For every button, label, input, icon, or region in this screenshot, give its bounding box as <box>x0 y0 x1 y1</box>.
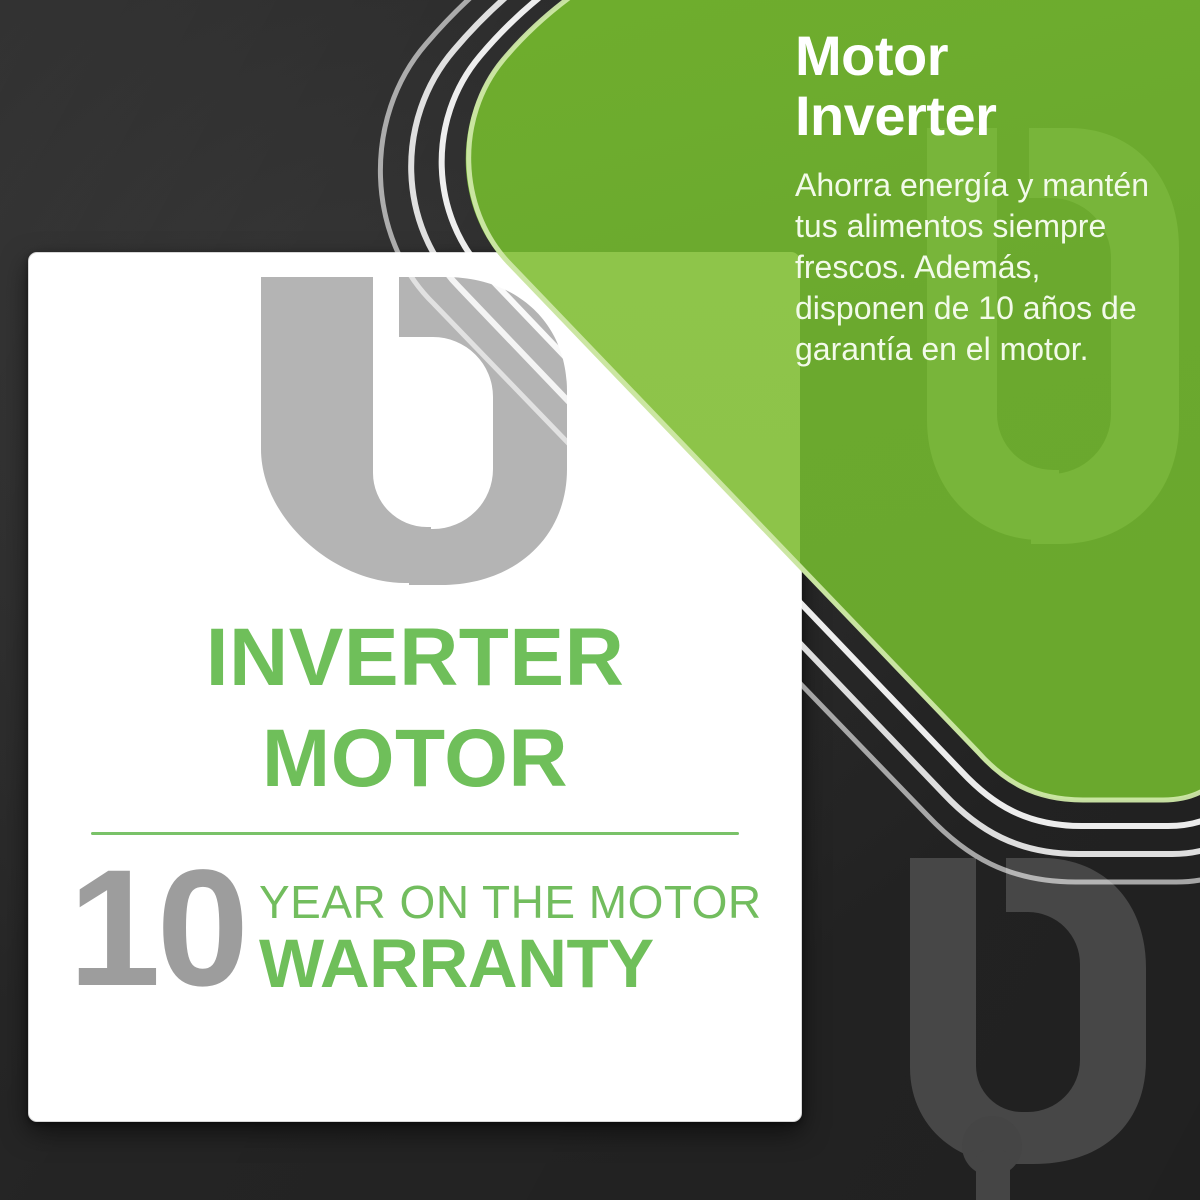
card-title-group: INVERTER MOTOR <box>206 619 625 798</box>
panel-title-line2: Inverter <box>795 86 1157 146</box>
product-card: INVERTER MOTOR 10 YEAR ON THE MOTOR WARR… <box>28 252 802 1122</box>
panel-body-text: Ahorra energía y mantén tus alimentos si… <box>795 165 1157 370</box>
panel-title-line1: Motor <box>795 26 1157 86</box>
card-title-line2: MOTOR <box>206 720 625 799</box>
warranty-block: 10 YEAR ON THE MOTOR WARRANTY <box>68 861 761 999</box>
warranty-years-number: 10 <box>68 861 245 997</box>
warranty-subtitle: YEAR ON THE MOTOR <box>259 879 762 925</box>
card-divider <box>91 832 739 835</box>
warranty-title: WARRANTY <box>259 929 762 999</box>
panel-text-block: Motor Inverter Ahorra energía y mantén t… <box>795 26 1157 370</box>
promo-banner: INVERTER MOTOR 10 YEAR ON THE MOTOR WARR… <box>0 0 1200 1200</box>
brand-b-logo <box>243 267 587 593</box>
card-title-line1: INVERTER <box>206 619 625 698</box>
